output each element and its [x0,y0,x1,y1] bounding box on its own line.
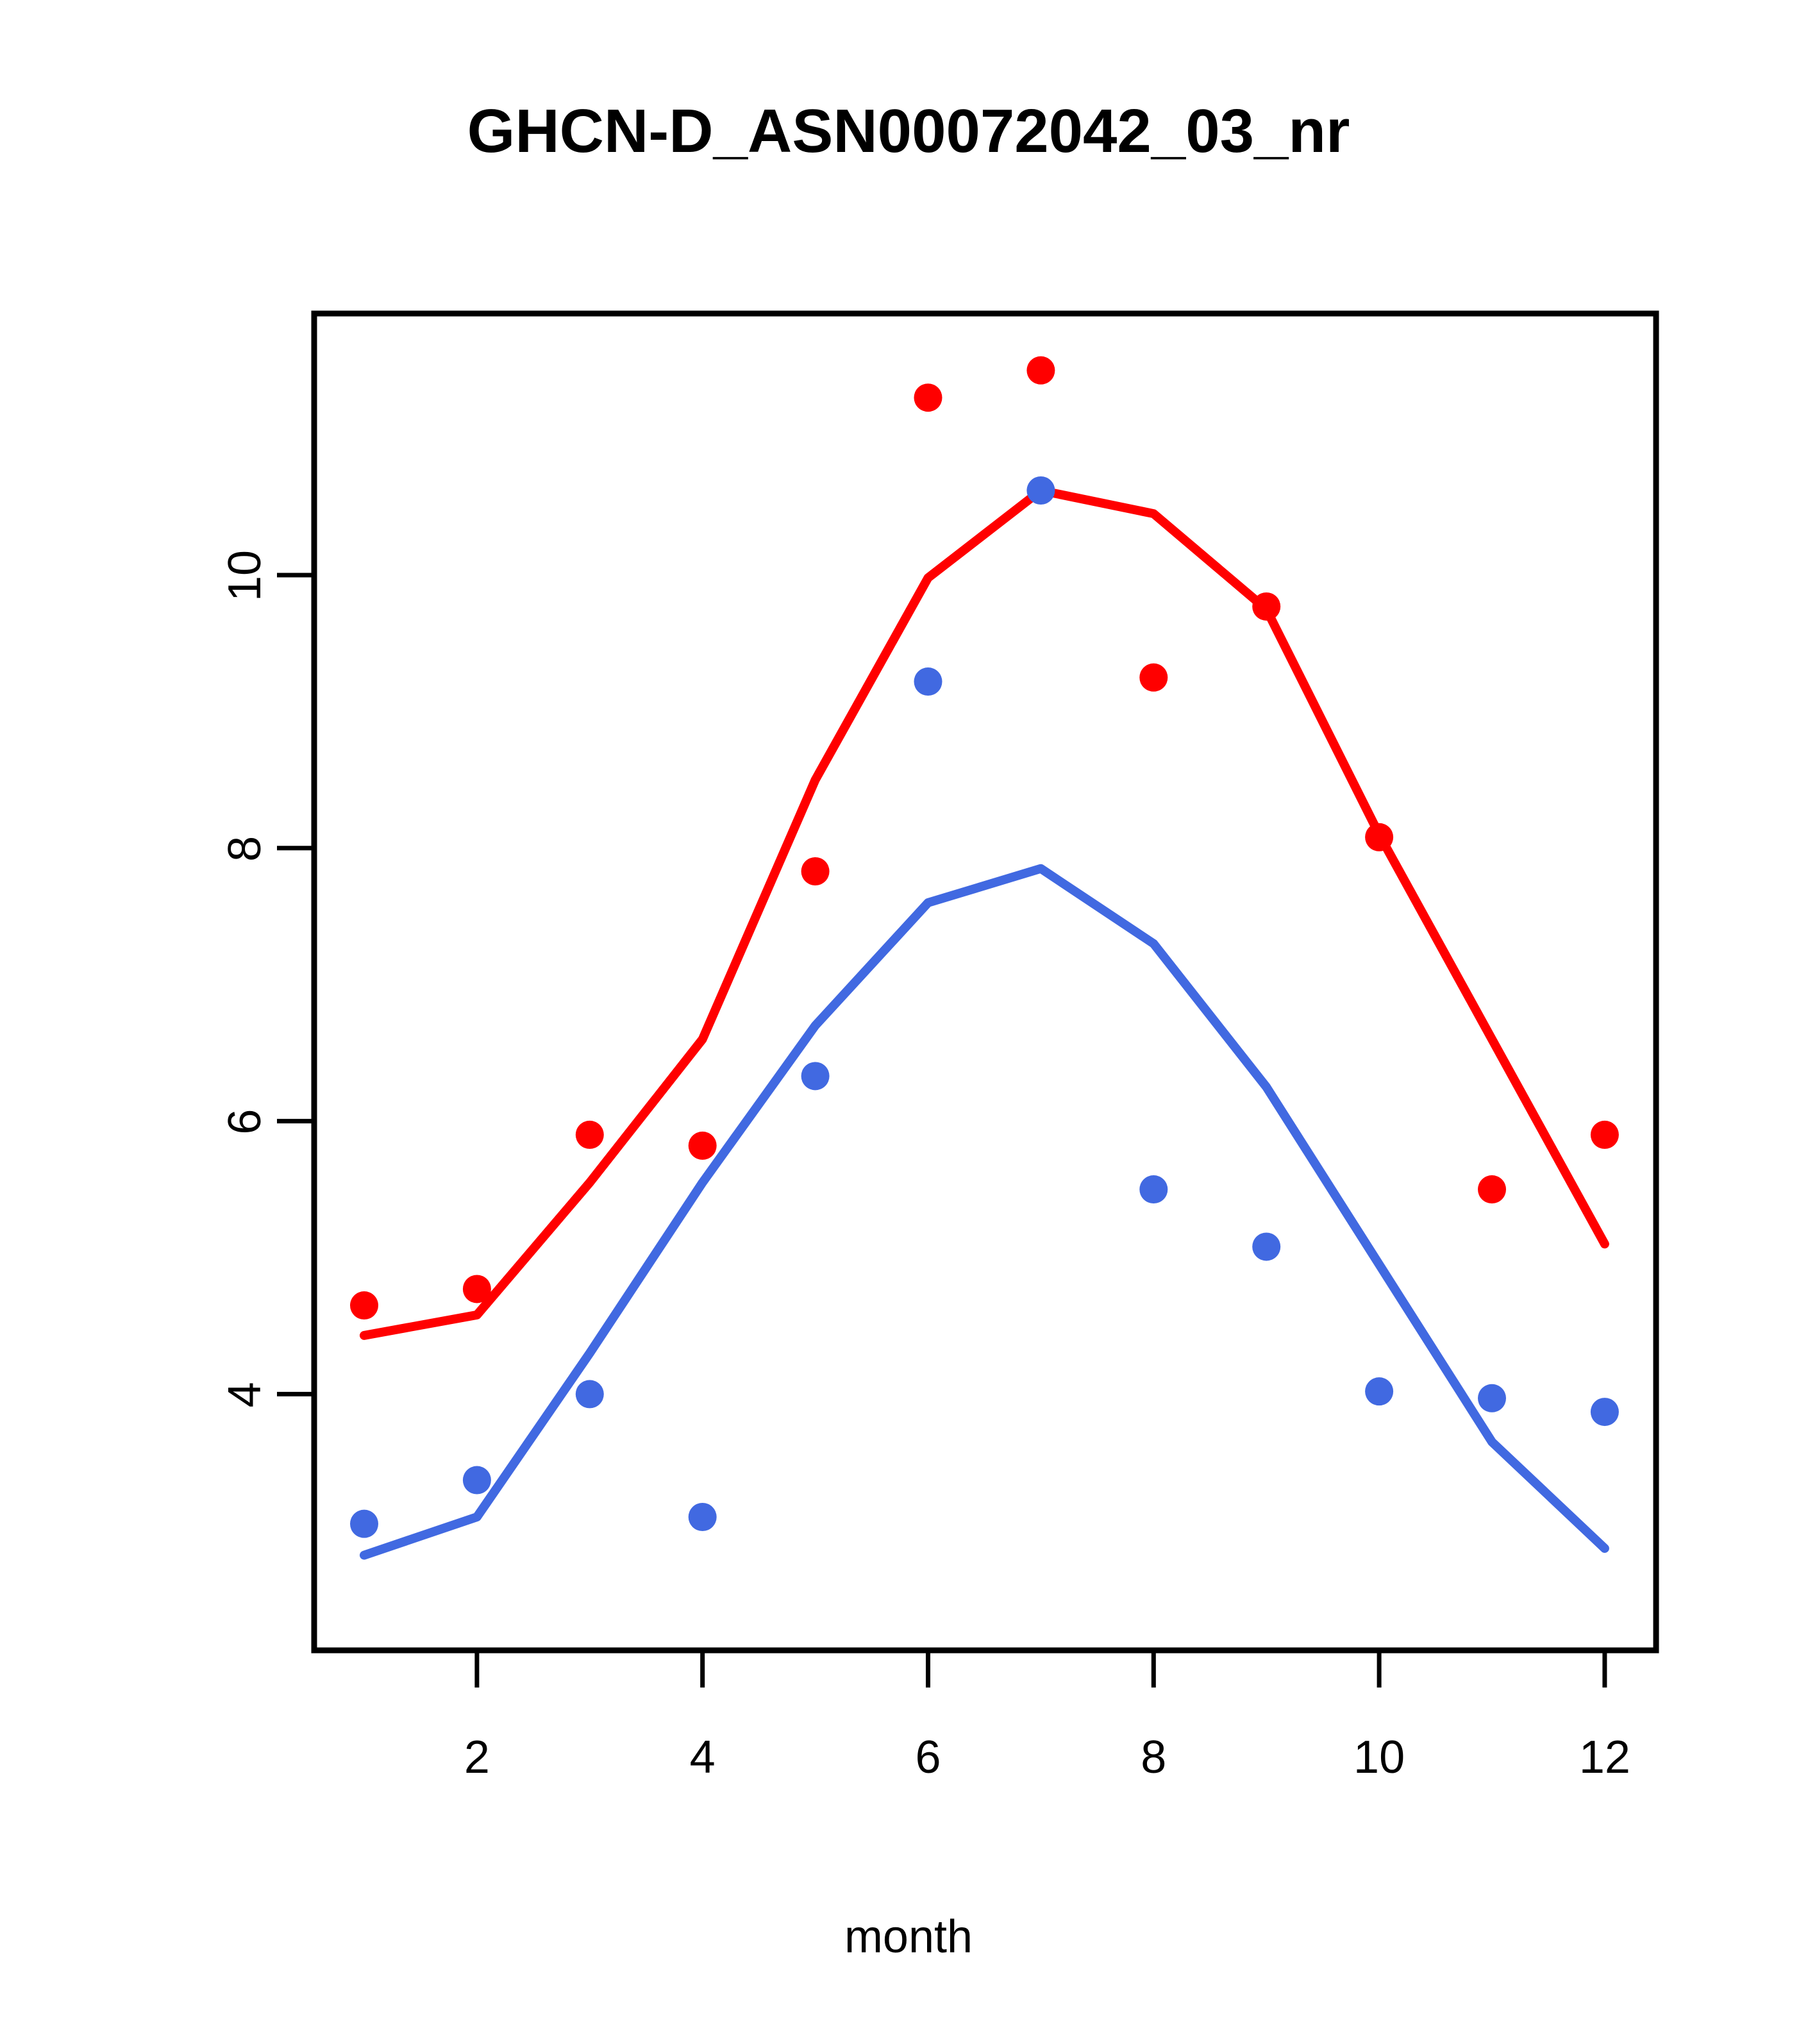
data-point [1365,823,1393,851]
x-tick-label: 8 [1141,1731,1166,1784]
red-line [364,490,1605,1336]
data-point [1591,1121,1619,1149]
y-tick-label: 10 [219,524,271,627]
data-point [1365,1377,1393,1405]
y-tick-label: 6 [219,1071,271,1173]
data-point [1139,664,1168,692]
data-point [801,1062,830,1090]
red-points [350,356,1619,1319]
x-tick-label: 2 [464,1731,490,1784]
blue-points [350,476,1619,1538]
plot-canvas [0,0,1817,2044]
data-series-layer [350,356,1619,1555]
data-point [689,1503,717,1531]
data-point [1026,476,1055,505]
data-point [463,1275,491,1303]
x-axis-ticks [477,1650,1605,1688]
data-point [1139,1175,1168,1203]
data-point [350,1291,378,1319]
x-axis-label: month [0,1911,1817,1963]
data-point [1252,1232,1280,1261]
data-point [350,1510,378,1538]
data-point [463,1466,491,1495]
data-point [689,1132,717,1160]
y-axis-ticks [277,575,314,1394]
x-tick-label: 4 [690,1731,716,1784]
x-tick-label: 12 [1579,1731,1630,1784]
y-tick-label: 8 [219,798,271,900]
y-tick-label: 4 [219,1343,271,1446]
data-point [1478,1175,1506,1203]
plot-frame [314,314,1656,1650]
data-point [1591,1398,1619,1426]
data-point [1252,592,1280,621]
x-tick-label: 6 [915,1731,941,1784]
data-point [1478,1384,1506,1412]
data-point [801,857,830,885]
data-point [576,1121,604,1149]
x-tick-label: 10 [1353,1731,1405,1784]
data-point [576,1380,604,1408]
data-point [914,383,942,412]
blue-line [364,869,1605,1555]
data-point [914,667,942,696]
chart-container: GHCN-D_ASN00072042_03_nr 24681012 46810 … [0,0,1817,2044]
plot-box-border [314,314,1656,1650]
data-point [1026,356,1055,385]
